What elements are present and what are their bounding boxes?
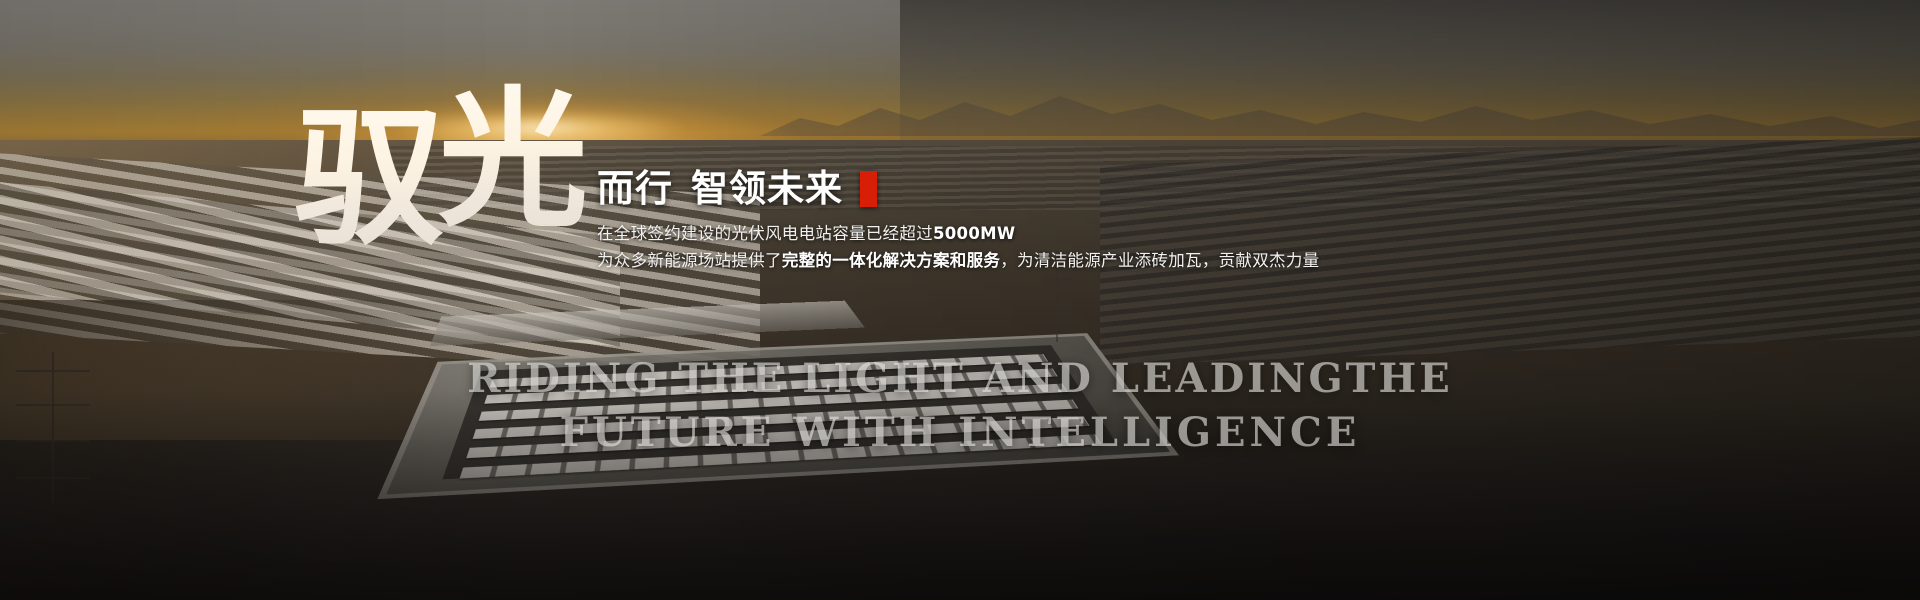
accent-block	[860, 171, 877, 207]
solution-highlight: 完整的一体化解决方案和服务	[782, 251, 1000, 270]
capacity-value: 5000MW	[933, 224, 1015, 243]
copy-block: 而行 智领未来 在全球签约建设的光伏风电电站容量已经超过5000MW 为众多新能…	[597, 168, 1417, 274]
hero-banner: 驭 光 而行 智领未来 在全球签约建设的光伏风电电站容量已经超过5000MW 为…	[0, 0, 1920, 600]
headline: 而行 智领未来	[597, 168, 1417, 209]
background-photo	[0, 0, 1920, 600]
scene-dim-overlay	[0, 0, 1920, 600]
subtitle-line-2-prefix: 为众多新能源场站提供了	[597, 251, 782, 270]
subtitle-line-2: 为众多新能源场站提供了完整的一体化解决方案和服务，为清洁能源产业添砖加瓦，贡献双…	[597, 248, 1417, 274]
subtitle-line-1: 在全球签约建设的光伏风电电站容量已经超过5000MW	[597, 221, 1417, 247]
subtitle-line-1-text: 在全球签约建设的光伏风电电站容量已经超过	[597, 224, 933, 243]
headline-part-1: 而行	[597, 168, 673, 209]
subtitle-line-2-suffix: ，为清洁能源产业添砖加瓦，贡献双杰力量	[1000, 251, 1319, 270]
headline-part-2: 智领未来	[691, 168, 843, 209]
